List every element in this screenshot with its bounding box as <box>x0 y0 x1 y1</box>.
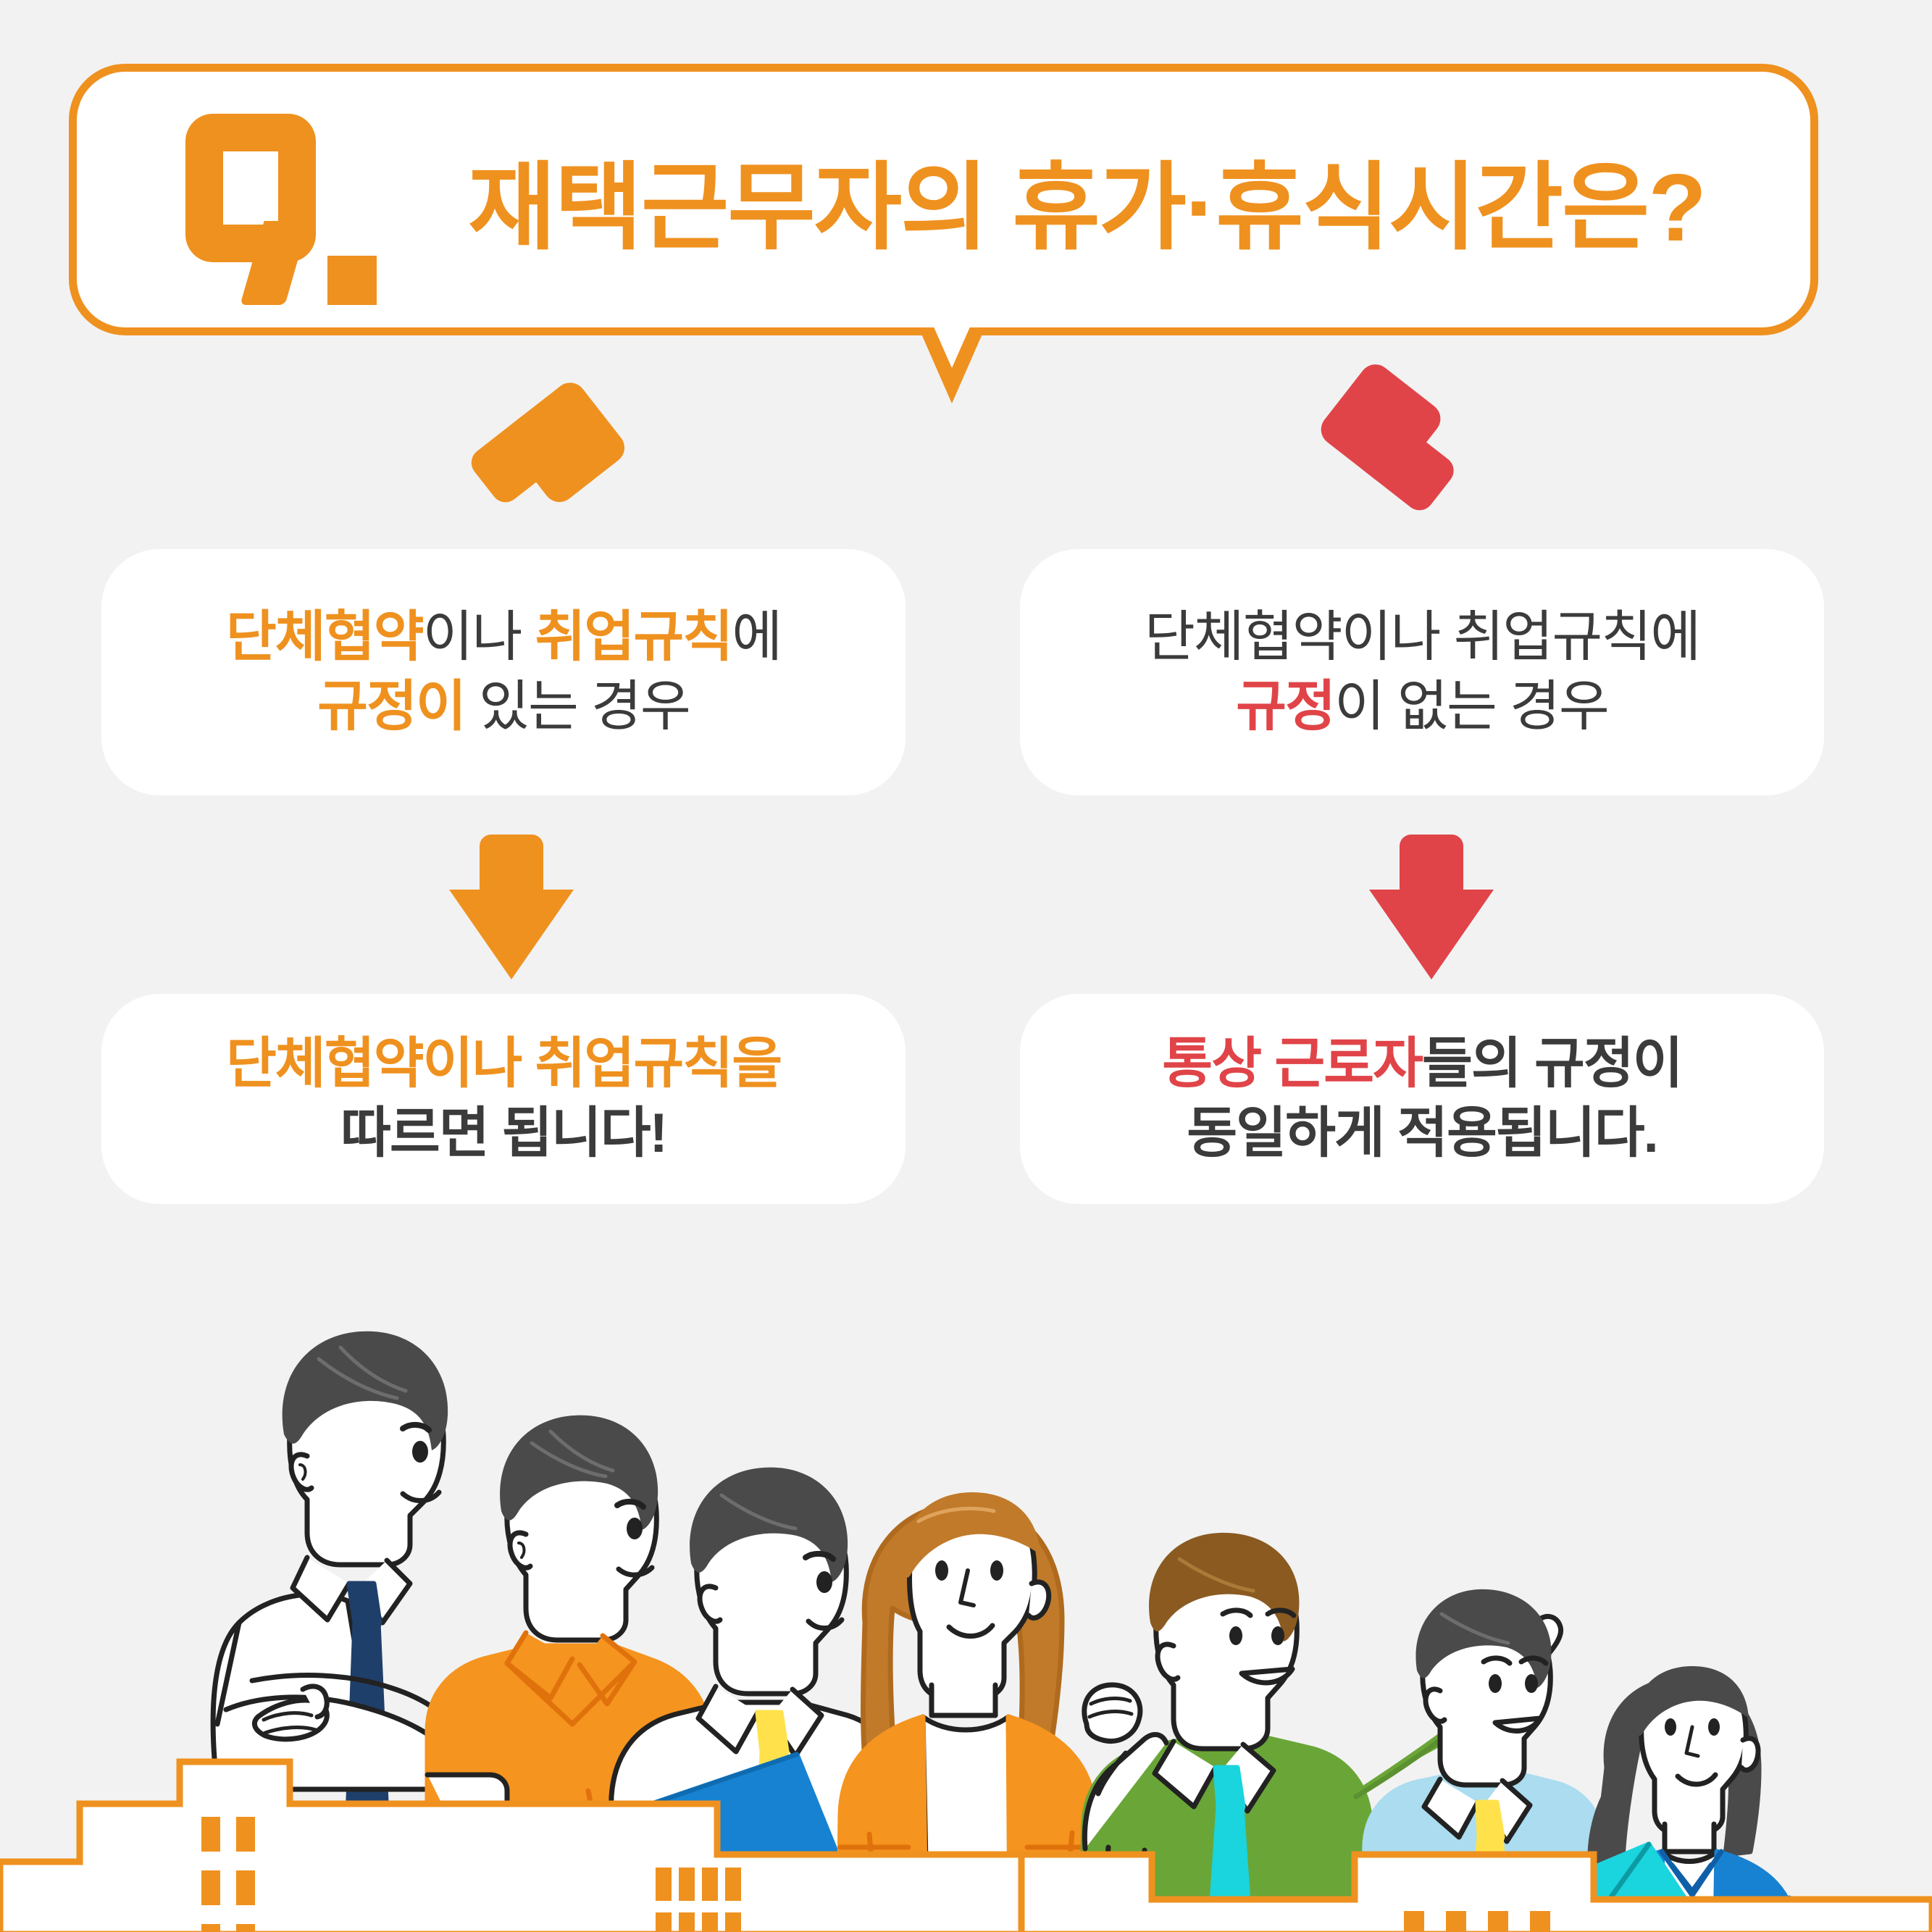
txt-or: 이나 <box>423 606 535 668</box>
kw-collective-agreement: 단체협약 <box>226 606 423 668</box>
diagonal-arrow-right-icon <box>1297 352 1490 545</box>
question-mark-glyph <box>185 114 356 295</box>
infographic-canvas: 재택근무자의 휴가·휴식시간은? 단체협약이나 취업규칙에 규정이 있는 경우 … <box>0 0 1932 1932</box>
office-workers-illustration <box>0 1217 1932 1932</box>
condition-right-line1: 단체협약이나 취업규칙에 <box>1145 603 1699 672</box>
question-bubble: 재택근무자의 휴가·휴식시간은? <box>69 64 1818 335</box>
kw-employment-rules: 취업규칙 <box>535 606 732 668</box>
diagonal-arrow-left-icon <box>442 352 635 545</box>
condition-box-left: 단체협약이나 취업규칙에 규정이 있는 경우 <box>101 549 906 795</box>
condition-right-line2: 규정이 없는 경우 <box>1236 672 1608 742</box>
answer-left-line1: 단체협약이나 취업규칙을 <box>226 1029 781 1099</box>
txt-their-provisions: 들의 규정이 <box>1422 1033 1682 1095</box>
arrow-head <box>1369 890 1494 979</box>
answer-box-right: 통상 근로자들의 규정이 동일하게 적용됩니다. <box>1020 994 1824 1204</box>
q-period-dot <box>327 256 377 305</box>
txt-exists-case: 있는 경우 <box>465 676 690 737</box>
answer-right-line2: 동일하게 적용됩니다. <box>1187 1099 1657 1168</box>
bubble-tail-fill <box>930 319 974 368</box>
down-arrow-left-icon <box>449 835 565 979</box>
answer-left-line2: 따르면 됩니다! <box>340 1099 666 1168</box>
down-arrow-right-icon <box>1369 835 1485 979</box>
txt-not-exists-case: 이 없는 경우 <box>1334 676 1608 737</box>
kw-provision: 규정이 <box>317 676 465 737</box>
answer-box-left: 단체협약이나 취업규칙을 따르면 됩니다! <box>101 994 906 1204</box>
txt-particle-e: 에 <box>732 606 781 668</box>
arrow-head <box>449 890 574 979</box>
condition-left-line2: 규정이 있는 경우 <box>317 672 690 742</box>
answer-right-line1: 통상 근로자들의 규정이 <box>1162 1029 1681 1099</box>
condition-left-line1: 단체협약이나 취업규칙에 <box>226 603 781 672</box>
kw-ordinary-worker: 통상 근로자 <box>1162 1033 1422 1095</box>
condition-box-right: 단체협약이나 취업규칙에 규정이 없는 경우 <box>1020 549 1824 795</box>
kw-provision-red: 규정 <box>1236 676 1334 737</box>
question-title: 재택근무자의 휴가·휴식시간은? <box>468 72 1705 327</box>
